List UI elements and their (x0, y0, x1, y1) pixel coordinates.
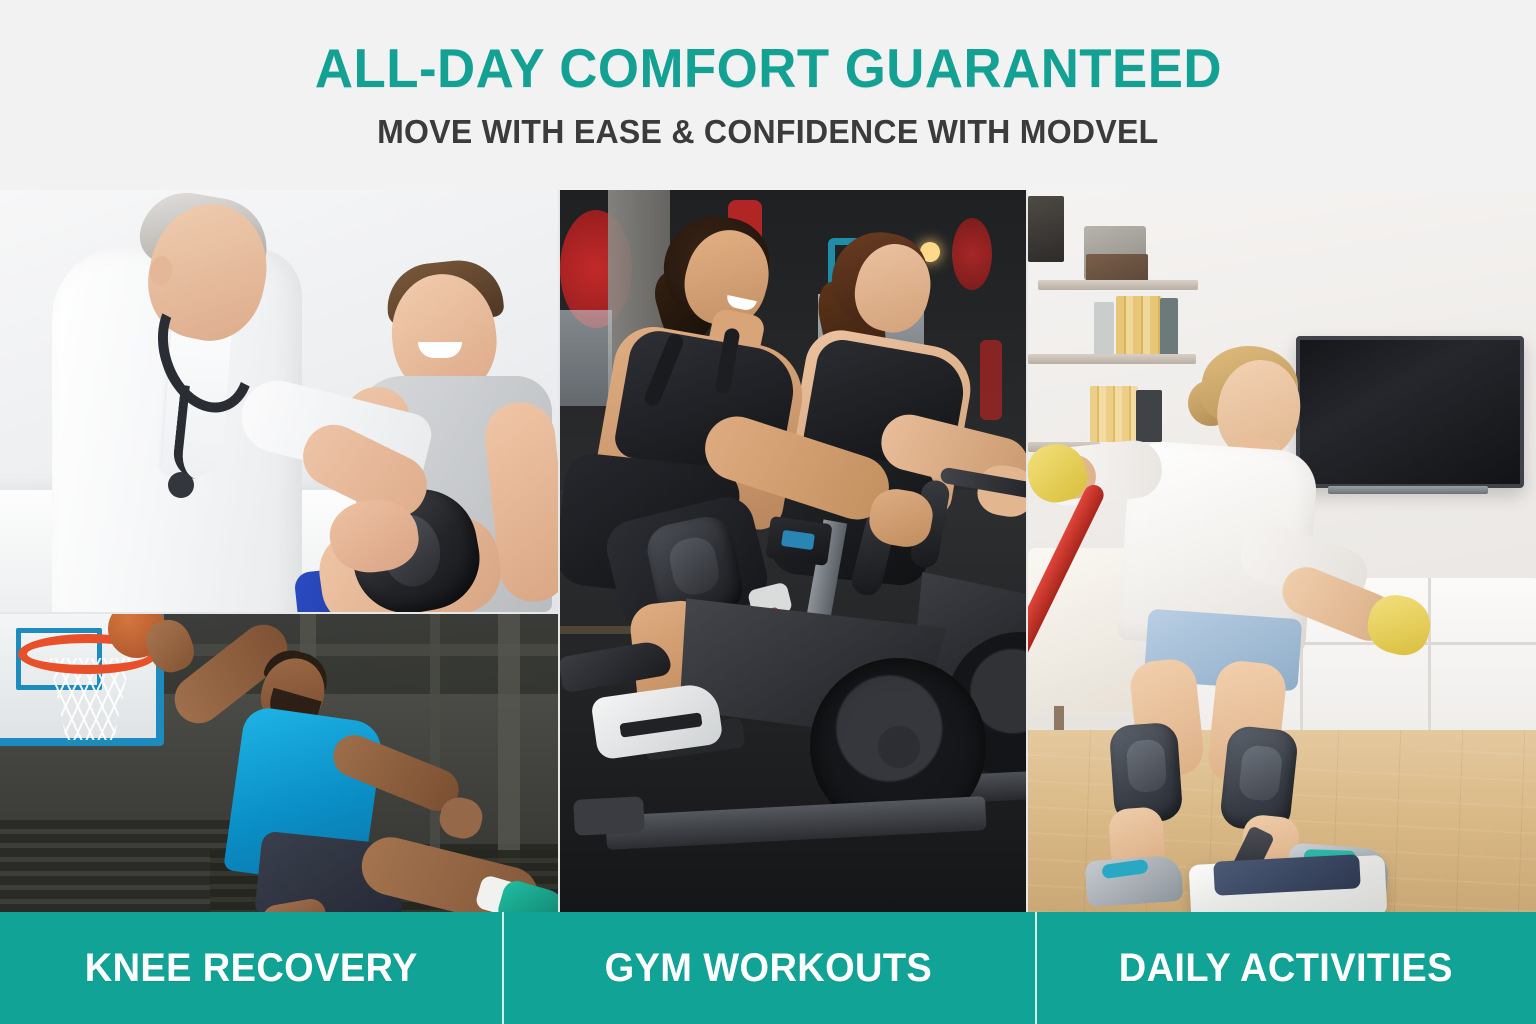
category-label: DAILY ACTIVITIES (1118, 946, 1452, 991)
photo-daily-activities (1028, 190, 1536, 912)
infographic-banner: ALL-DAY COMFORT GUARANTEED MOVE WITH EAS… (0, 0, 1536, 1024)
category-label-bar: KNEE RECOVERY GYM WORKOUTS DAILY ACTIVIT… (0, 912, 1536, 1024)
category-gym-workouts: GYM WORKOUTS (502, 912, 1035, 1024)
shelf-book-grey (1094, 302, 1114, 356)
page-subtitle: MOVE WITH EASE & CONFIDENCE WITH MODVEL (377, 114, 1158, 150)
tv-bottom-bezel (1328, 486, 1488, 494)
shelf-box-lower (1086, 254, 1148, 282)
photo-knee-recovery-basketball (0, 614, 558, 912)
shelf-book-teal (1160, 298, 1178, 356)
wall-shelf-middle (1028, 354, 1196, 364)
shelf-books-yellow (1116, 296, 1162, 356)
wall-mounted-tv (1296, 336, 1524, 488)
photo-grid (0, 190, 1536, 912)
footer-divider-1 (502, 912, 504, 1024)
gym-window-3 (560, 310, 612, 406)
category-label: KNEE RECOVERY (85, 946, 418, 991)
photo-knee-recovery-clinic (0, 190, 558, 612)
shelf-book-dark (1136, 390, 1162, 442)
photo-gym-workouts (560, 190, 1026, 912)
category-knee-recovery: KNEE RECOVERY (0, 912, 502, 1024)
shelf-books-yellow-2 (1090, 386, 1138, 442)
gym-red-decor-3 (952, 218, 992, 290)
category-label: GYM WORKOUTS (605, 946, 933, 991)
wall-shelf-top (1038, 280, 1198, 290)
footer-divider-2 (1035, 912, 1037, 1024)
page-title: ALL-DAY COMFORT GUARANTEED (314, 40, 1221, 98)
category-daily-activities: DAILY ACTIVITIES (1035, 912, 1536, 1024)
gym-red-decor-4 (980, 340, 1002, 420)
bike1-base-foot (573, 796, 645, 836)
shelf-dark-box (1028, 196, 1064, 262)
stethoscope-bell (168, 472, 194, 498)
bike1-hub (878, 726, 920, 768)
header-band: ALL-DAY COMFORT GUARANTEED MOVE WITH EAS… (0, 0, 1536, 190)
